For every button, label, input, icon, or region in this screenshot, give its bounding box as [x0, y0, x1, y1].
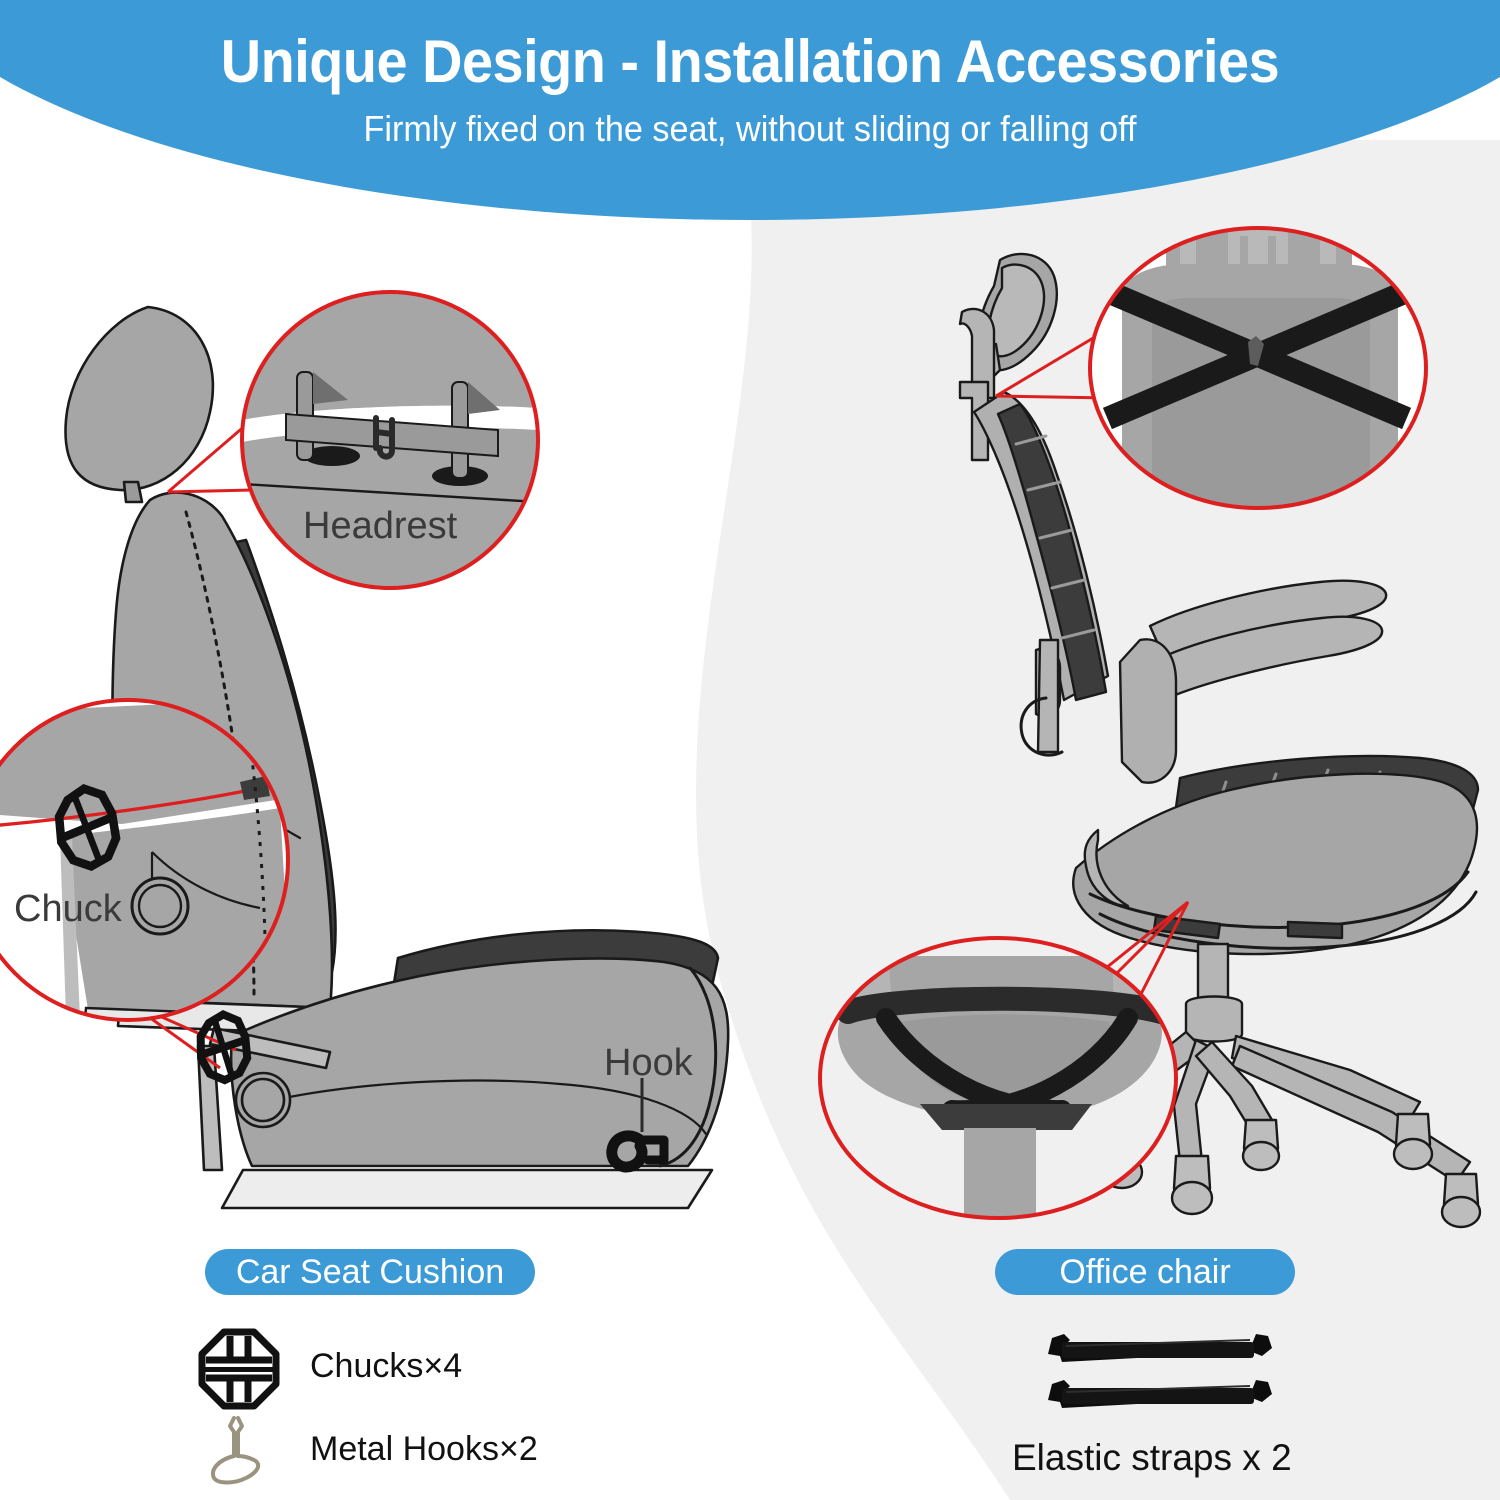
header-text-group: Unique Design - Installation Accessories… — [0, 0, 1500, 148]
page-title: Unique Design - Installation Accessories — [53, 0, 1448, 95]
seat-strap-callout — [816, 902, 1188, 1224]
elastic-strap — [1048, 1334, 1272, 1362]
badge-car-seat-cushion: Car Seat Cushion — [205, 1249, 535, 1295]
legend-label-chucks: Chucks×4 — [310, 1347, 462, 1386]
metal-hook-icon — [204, 1412, 274, 1488]
legend-label-metal-hooks: Metal Hooks×2 — [310, 1430, 538, 1469]
headrest-callout-label: Headrest — [303, 505, 457, 548]
chuck-callout-label: Chuck — [14, 888, 122, 931]
hook-callout-label: Hook — [604, 1042, 693, 1085]
legend-label-elastic-straps: Elastic straps x 2 — [1012, 1437, 1292, 1479]
infographic-canvas: Headrest Chuck Hook Unique Design - Inst… — [0, 0, 1500, 1500]
elastic-strap-icon — [1030, 1322, 1280, 1422]
elastic-strap — [1048, 1380, 1272, 1408]
chuck-icon — [196, 1326, 282, 1412]
page-subtitle: Firmly fixed on the seat, without slidin… — [38, 95, 1463, 149]
backrest-strap-callout — [996, 228, 1430, 508]
badge-office-chair: Office chair — [995, 1249, 1295, 1295]
